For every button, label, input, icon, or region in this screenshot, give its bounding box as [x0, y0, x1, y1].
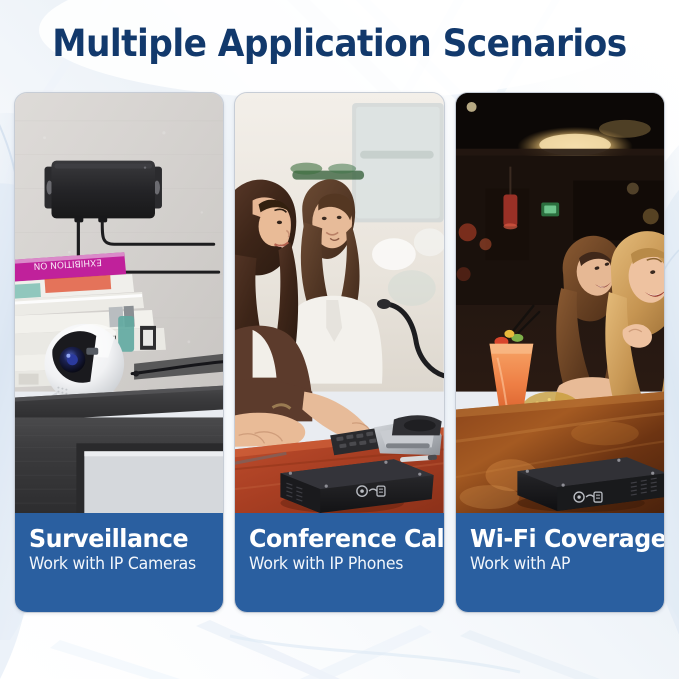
surveillance-caption: Surveillance Work with IP Cameras — [15, 513, 223, 612]
conference-call-caption: Conference Call Work with IP Phones — [235, 513, 443, 612]
conference-call-photo — [235, 93, 443, 513]
scenario-card-surveillance[interactable]: EXHIBITION ON BAUHAUS — [14, 92, 224, 613]
page-title-container: Multiple Application Scenarios — [0, 24, 679, 65]
scenario-card-wifi-coverage[interactable]: Wi-Fi Coverage Work with AP — [455, 92, 665, 613]
wifi-coverage-caption-title: Wi-Fi Coverage — [470, 525, 655, 552]
conference-call-caption-subtitle: Work with IP Phones — [249, 555, 434, 574]
wifi-coverage-caption: Wi-Fi Coverage Work with AP — [456, 513, 664, 612]
surveillance-photo: EXHIBITION ON BAUHAUS — [15, 93, 223, 513]
scenario-cards-row: EXHIBITION ON BAUHAUS — [14, 92, 665, 613]
surveillance-caption-title: Surveillance — [29, 525, 214, 552]
conference-call-caption-title: Conference Call — [249, 525, 434, 552]
wifi-coverage-caption-subtitle: Work with AP — [470, 555, 655, 574]
wifi-coverage-photo — [456, 93, 664, 513]
dark-wood-shelf — [15, 386, 223, 513]
scenario-card-conference-call[interactable]: Conference Call Work with IP Phones — [234, 92, 444, 613]
conference-call-scene-illustration — [235, 93, 443, 513]
wall-mounted-poe-device — [45, 161, 162, 223]
surveillance-caption-subtitle: Work with IP Cameras — [29, 555, 214, 574]
page-title: Multiple Application Scenarios — [24, 24, 655, 65]
conference-ip-phone — [374, 415, 442, 455]
surveillance-scene-illustration: EXHIBITION ON BAUHAUS — [15, 93, 223, 513]
wifi-coverage-scene-illustration — [456, 93, 664, 513]
